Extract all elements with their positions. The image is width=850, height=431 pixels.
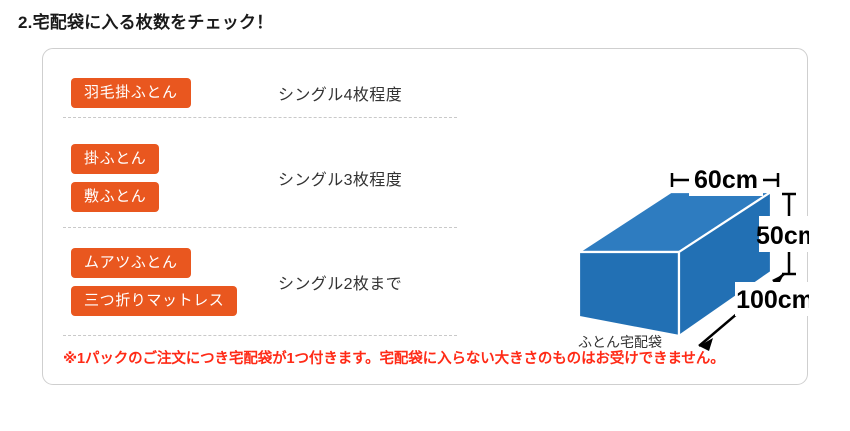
height-label: 50cm [756,222,809,250]
badge-group: 羽毛掛ふとん [71,78,278,108]
capacity-value: シングル4枚程度 [278,81,402,105]
capacity-row: 掛ふとん 敷ふとん シングル3枚程度 [71,140,491,216]
item-badge: 敷ふとん [71,182,159,212]
diagram-caption: ふとん宅配袋 [578,332,662,352]
page-title: 2.宅配袋に入る枚数をチェック！ [18,8,273,33]
capacity-row: ムアツふとん 三つ折りマットレス シングル2枚まで [71,244,491,320]
item-badge: ムアツふとん [71,248,191,278]
box-front-face [579,252,679,336]
badge-group: 掛ふとん 敷ふとん [71,144,278,212]
width-label: 60cm [694,166,758,194]
depth-label: 100cm [736,286,809,314]
row-divider [63,117,457,118]
bag-illustration-svg: 60cm 50cm 100cm [513,104,809,354]
delivery-bag-diagram: 60cm 50cm 100cm ふとん宅配袋 [513,104,809,354]
info-card: 羽毛掛ふとん シングル4枚程度 掛ふとん 敷ふとん シングル3枚程度 ムアツふと… [42,48,808,385]
capacity-list: 羽毛掛ふとん シングル4枚程度 掛ふとん 敷ふとん シングル3枚程度 ムアツふと… [43,49,513,384]
badge-group: ムアツふとん 三つ折りマットレス [71,248,278,316]
capacity-value: シングル2枚まで [278,270,402,294]
item-badge: 羽毛掛ふとん [71,78,191,108]
capacity-row: 羽毛掛ふとん シングル4枚程度 [71,69,491,117]
item-badge: 掛ふとん [71,144,159,174]
row-divider [63,335,457,336]
row-divider [63,227,457,228]
item-badge: 三つ折りマットレス [71,286,237,316]
capacity-value: シングル3枚程度 [278,166,402,190]
